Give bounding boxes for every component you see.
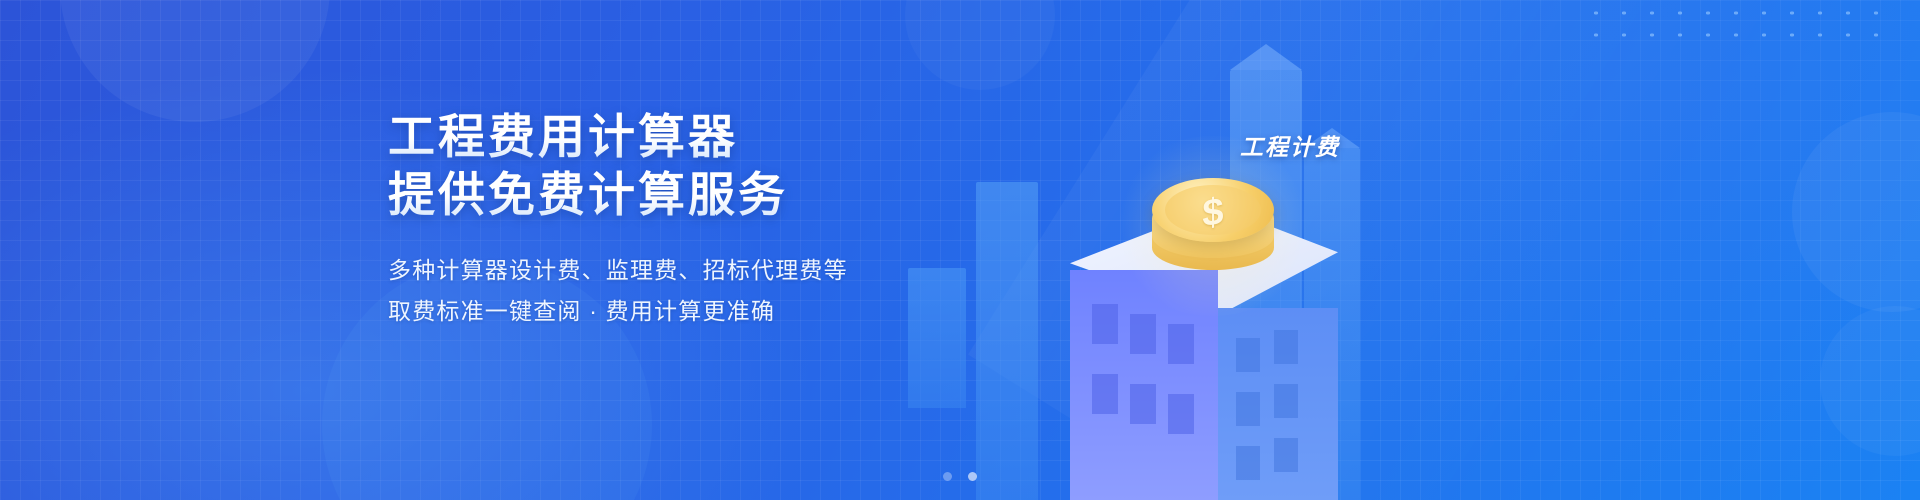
decorative-circle-top-left	[60, 0, 330, 122]
building-window	[1236, 338, 1260, 372]
building-window	[1274, 384, 1298, 418]
building-window	[1274, 330, 1298, 364]
carousel-pagination[interactable]	[943, 472, 977, 481]
building-window	[1092, 304, 1118, 344]
building-face-left	[1070, 270, 1218, 500]
building-window	[1236, 446, 1260, 480]
dotted-matrix-pattern	[1582, 2, 1902, 46]
coin-inner-face: $	[1165, 185, 1261, 235]
dollar-sign-icon: $	[1165, 181, 1261, 244]
illustration-badge-label: 工程计费	[1240, 128, 1340, 162]
building-window	[1130, 384, 1156, 424]
background-bar-1	[908, 268, 966, 408]
banner-headline-line2: 提供免费计算服务	[388, 166, 848, 224]
carousel-dot-2[interactable]	[968, 472, 977, 481]
banner-subtitle-line1: 多种计算器设计费、监理费、招标代理费等	[388, 250, 848, 291]
building-window	[1168, 394, 1194, 434]
building-window	[1236, 392, 1260, 426]
decorative-circle-right-lower	[1820, 306, 1920, 456]
hero-banner: 工程费用计算器 提供免费计算服务 多种计算器设计费、监理费、招标代理费等 取费标…	[0, 0, 1920, 500]
building-window	[1168, 324, 1194, 364]
building-window	[1092, 374, 1118, 414]
gold-coin-stack-icon: $	[1152, 178, 1274, 288]
decorative-circle-right-upper	[1792, 112, 1920, 312]
background-bar-2	[976, 182, 1038, 500]
carousel-dot-1[interactable]	[943, 472, 952, 481]
banner-headline-line1: 工程费用计算器	[388, 108, 848, 166]
building-window	[1274, 438, 1298, 472]
banner-copy: 工程费用计算器 提供免费计算服务 多种计算器设计费、监理费、招标代理费等 取费标…	[388, 108, 848, 332]
coin-layer-top: $	[1152, 178, 1274, 242]
banner-illustration: $ 工程计费	[880, 0, 1520, 500]
building-face-right	[1218, 308, 1338, 500]
background-bar-3-cap	[1230, 44, 1302, 70]
banner-subtitle-line2: 取费标准一键查阅 · 费用计算更准确	[388, 291, 848, 332]
building-window	[1130, 314, 1156, 354]
